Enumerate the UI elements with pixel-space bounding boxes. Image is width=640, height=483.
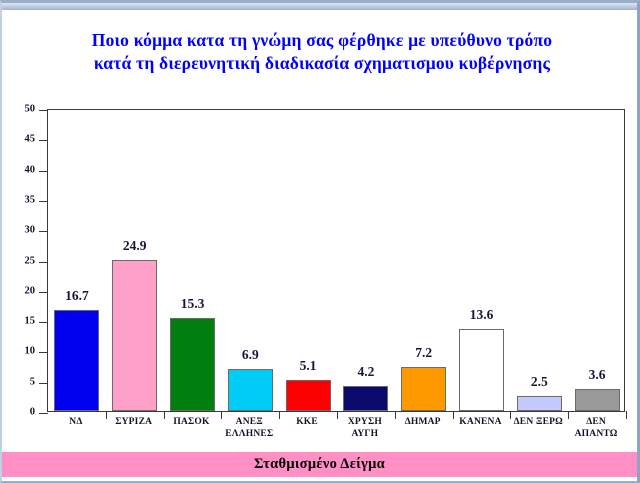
- y-axis-tick-label: 5: [30, 376, 35, 387]
- x-axis-category-label: ΠΑΣΟΚ: [163, 416, 221, 428]
- x-axis-label-line: ΕΛΛΗΝΕΣ: [220, 428, 278, 440]
- y-axis-tick-label: 45: [25, 134, 36, 145]
- y-axis-tick-label: 20: [25, 285, 36, 296]
- chart-plot-wrapper: 16.724.915.36.95.14.27.213.62.53.6 05101…: [47, 109, 625, 412]
- y-axis-tick: [39, 322, 48, 323]
- x-axis-label-line: ΔΕΝ ΞΕΡΩ: [509, 416, 567, 428]
- slide-frame: Ποιο κόμμα κατα τη γνώμη σας φέρθηκε με …: [0, 0, 640, 483]
- bar: [54, 310, 99, 411]
- y-axis-tick: [39, 201, 48, 202]
- bar-value-label: 2.5: [509, 374, 569, 390]
- bar: [575, 389, 620, 411]
- chart-plot-area: 16.724.915.36.95.14.27.213.62.53.6: [47, 109, 625, 412]
- bar: [286, 380, 331, 411]
- title-line-2: κατά τη διερευνητική διαδικασία σχηματισ…: [2, 52, 640, 75]
- y-axis-tick: [39, 140, 48, 141]
- bar: [228, 369, 273, 411]
- y-axis-tick-label: 0: [30, 407, 35, 418]
- bar-value-label: 24.9: [105, 238, 165, 254]
- y-axis-tick: [39, 262, 48, 263]
- bar-value-label: 6.9: [220, 347, 280, 363]
- x-axis-category-label: ΔΕΝ ΞΕΡΩ: [509, 416, 567, 428]
- y-axis-tick-label: 30: [25, 225, 36, 236]
- bar: [401, 367, 446, 411]
- x-axis-label-line: ΣΥΡΙΖΑ: [105, 416, 163, 428]
- footer-banner: Σταθμισμένο Δείγμα: [2, 452, 637, 477]
- bar: [343, 386, 388, 411]
- y-axis-tick-label: 50: [25, 104, 36, 115]
- x-axis-category-label: ΚΚΕ: [278, 416, 336, 428]
- y-axis-tick-label: 35: [25, 194, 36, 205]
- x-axis-category-label: ΚΑΝΕΝΑ: [452, 416, 510, 428]
- x-axis-category-label: ΑΝΕΞΕΛΛΗΝΕΣ: [220, 416, 278, 440]
- x-axis-category-label: ΔΗΜΑΡ: [394, 416, 452, 428]
- bar-value-label: 15.3: [163, 296, 223, 312]
- x-axis-category-label: ΣΥΡΙΖΑ: [105, 416, 163, 428]
- y-axis-tick: [39, 231, 48, 232]
- window-top-sheen: [2, 3, 637, 10]
- x-axis-category-label: ΧΡΥΣΗΑΥΓΗ: [336, 416, 394, 440]
- bar: [459, 329, 504, 411]
- page-title: Ποιο κόμμα κατα τη γνώμη σας φέρθηκε με …: [2, 29, 640, 75]
- bar-value-label: 16.7: [47, 288, 107, 304]
- y-axis-tick-label: 25: [25, 255, 36, 266]
- title-line-1: Ποιο κόμμα κατα τη γνώμη σας φέρθηκε με …: [2, 29, 640, 52]
- bar-value-label: 3.6: [567, 367, 627, 383]
- y-axis-tick-label: 40: [25, 164, 36, 175]
- bar-value-label: 5.1: [278, 358, 338, 374]
- y-axis-tick: [39, 352, 48, 353]
- y-axis-tick-label: 10: [25, 346, 36, 357]
- x-axis-label-line: ΑΝΕΞ: [220, 416, 278, 428]
- x-axis-label-line: ΔΕΝ: [567, 416, 625, 428]
- x-axis-category-label: ΝΔ: [47, 416, 105, 428]
- bar-value-label: 7.2: [394, 345, 454, 361]
- x-axis-label-line: ΑΠΑΝΤΩ: [567, 428, 625, 440]
- y-axis-tick-label: 15: [25, 316, 36, 327]
- x-axis-labels: ΝΔΣΥΡΙΖΑΠΑΣΟΚΑΝΕΞΕΛΛΗΝΕΣΚΚΕΧΡΥΣΗΑΥΓΗΔΗΜΑ…: [47, 416, 625, 456]
- bar-value-label: 13.6: [452, 307, 512, 323]
- x-axis-label-line: ΑΥΓΗ: [336, 428, 394, 440]
- bar: [517, 396, 562, 411]
- bar: [170, 318, 215, 411]
- x-axis-label-line: ΠΑΣΟΚ: [163, 416, 221, 428]
- y-axis-tick: [39, 110, 48, 111]
- x-axis-label-line: ΧΡΥΣΗ: [336, 416, 394, 428]
- x-axis-label-line: ΝΔ: [47, 416, 105, 428]
- x-axis-label-line: ΚΚΕ: [278, 416, 336, 428]
- bar-value-label: 4.2: [336, 364, 396, 380]
- bar: [112, 260, 157, 411]
- footer-label: Σταθμισμένο Δείγμα: [254, 456, 385, 473]
- y-axis-tick: [39, 171, 48, 172]
- x-axis-category-label: ΔΕΝΑΠΑΝΤΩ: [567, 416, 625, 440]
- y-axis-tick: [39, 413, 48, 414]
- y-axis-tick: [39, 383, 48, 384]
- x-axis-label-line: ΚΑΝΕΝΑ: [452, 416, 510, 428]
- x-axis-label-line: ΔΗΜΑΡ: [394, 416, 452, 428]
- x-axis-tick: [626, 411, 627, 419]
